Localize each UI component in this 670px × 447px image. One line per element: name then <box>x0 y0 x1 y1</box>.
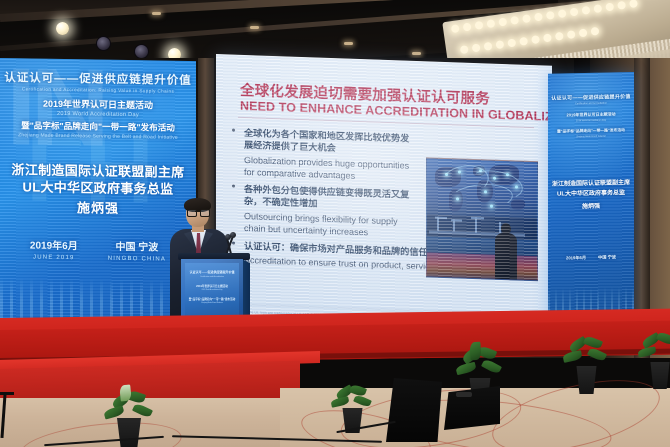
slide-illustration <box>426 157 538 281</box>
port-crane-arm <box>451 219 462 221</box>
bullet-2-en: Outsourcing brings flexibility for suppl… <box>244 211 414 240</box>
monitor-handle <box>456 392 472 397</box>
banner-place-en: NINGBO CHINA <box>108 255 166 263</box>
illustration-foreground <box>427 252 537 280</box>
network-node <box>458 170 461 173</box>
port-crane-icon <box>453 219 455 231</box>
network-node <box>493 177 496 180</box>
port-crane-icon <box>475 217 477 233</box>
stage-spotlight-icon <box>56 22 69 35</box>
left-led-banner: IN FH 认证认可——促进供应链提升价值 Certification and … <box>0 58 196 324</box>
bullet-1-en: Globalization provides huge opportunitie… <box>244 155 414 184</box>
ceiling-downlight-icon <box>152 12 161 15</box>
bullet-dot-icon <box>232 242 235 245</box>
banner-place-block: 中国 宁波 NINGBO CHINA <box>108 242 166 263</box>
continent-australia <box>511 199 525 209</box>
banner-speaker-name: 施炳强 <box>0 200 196 218</box>
plant-leaf <box>481 358 502 375</box>
silhouette-body <box>495 233 517 280</box>
bullet-2-cn: 各种外包分包使得供应链变得既灵活又复杂，不确定性增加 <box>244 183 414 214</box>
draped-equipment <box>386 378 442 442</box>
main-presentation-screen: 全球化发展迫切需要加强认证认可服务 NEED TO ENHANCE ACCRED… <box>216 54 552 334</box>
stage-floor-monitor <box>444 386 500 430</box>
network-node <box>484 190 487 193</box>
speaker-glasses-icon <box>187 209 208 215</box>
network-node <box>506 173 509 176</box>
plant-leaf <box>455 362 477 376</box>
network-node <box>515 185 518 188</box>
banner-role-line1: 浙江制造国际认证联盟副主席 <box>0 163 196 181</box>
right-banner-date: 2019年6月 <box>566 255 586 260</box>
person-silhouette-icon <box>495 223 517 280</box>
microphone-head-icon <box>225 234 231 240</box>
slide-bullet-1: 全球化为各个国家和地区发挥比较优势发展经济提供了巨大机会 Globalizati… <box>232 127 414 185</box>
network-node <box>479 169 482 172</box>
bullet-1-cn: 全球化为各个国家和地区发挥比较优势发展经济提供了巨大机会 <box>244 127 414 158</box>
slide-surface: 全球化发展迫切需要加强认证认可服务 NEED TO ENHANCE ACCRED… <box>216 54 552 334</box>
equipment-stand-arm <box>0 392 14 395</box>
network-node <box>445 173 448 176</box>
bullet-dot-icon <box>232 129 235 132</box>
network-node <box>456 197 459 200</box>
port-crane-icon <box>437 217 439 231</box>
banner-date-block: 2019年6月 JUNE 2019 <box>30 240 78 261</box>
right-led-banner: 认证认可——促进供应链提升价值 Certification and Accred… <box>548 72 634 322</box>
conference-stage-photo: IN FH 认证认可——促进供应链提升价值 Certification and … <box>0 0 670 447</box>
slide-bullet-2: 各种外包分包使得供应链变得既灵活又复杂，不确定性增加 Outsourcing b… <box>232 183 414 241</box>
bullet-dot-icon <box>232 185 235 188</box>
ceiling-downlight-icon <box>250 26 259 29</box>
ceiling-downlight-icon <box>344 42 353 45</box>
banner-place-cn: 中国 宁波 <box>108 242 166 254</box>
par-can-light-icon <box>134 44 149 59</box>
banner-date-en: JUNE 2019 <box>30 254 78 262</box>
port-crane-arm <box>471 217 484 219</box>
right-banner-place: 中国 宁波 <box>598 254 616 259</box>
network-node <box>490 205 493 208</box>
ceiling-downlight-icon <box>412 52 421 55</box>
banner-date-cn: 2019年6月 <box>30 240 78 252</box>
par-can-light-icon <box>96 36 111 51</box>
banner-footer: 2019年6月 JUNE 2019 中国 宁波 NINGBO CHINA <box>0 240 196 263</box>
banner-role-line2: UL大中华区政府事务总监 <box>0 180 196 198</box>
